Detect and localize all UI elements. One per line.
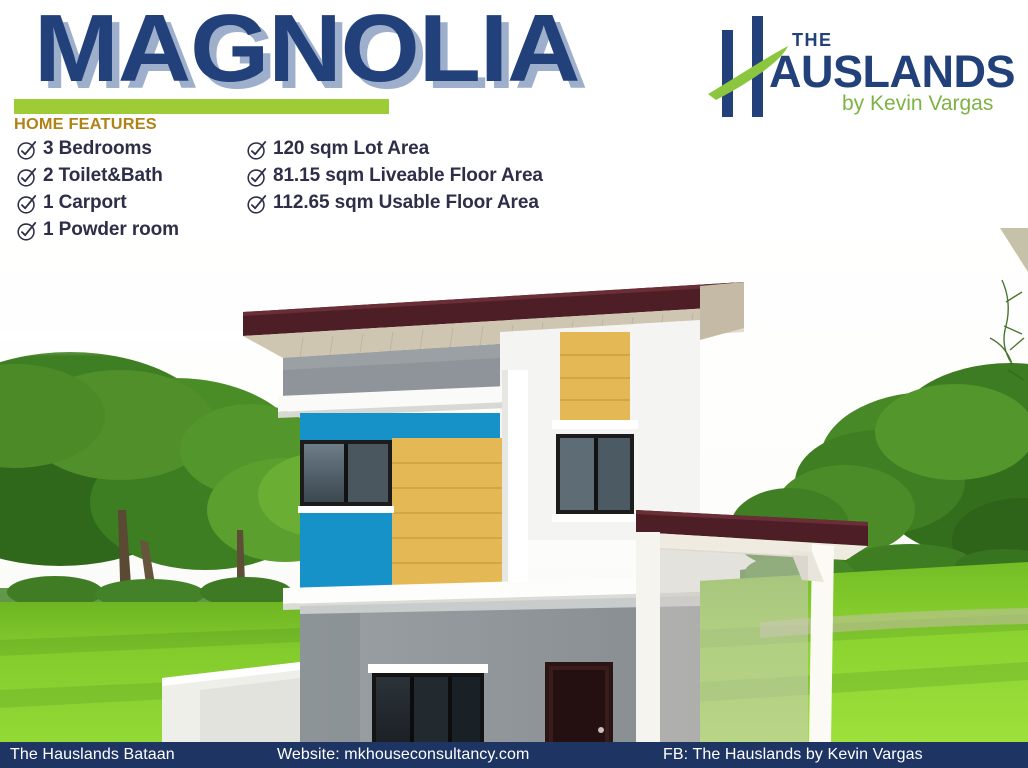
feature-label: 1 Carport <box>43 192 127 214</box>
circle-check-icon <box>16 220 38 242</box>
circle-check-icon <box>246 139 268 161</box>
feature-label: 112.65 sqm Usable Floor Area <box>273 192 539 214</box>
balcony-window <box>298 440 394 513</box>
home-features-list: 3 Bedrooms 2 Toilet&Bath <box>0 138 1028 256</box>
feature-label: 81.15 sqm Liveable Floor Area <box>273 165 543 187</box>
home-features-label: HOME FEATURES <box>14 116 157 134</box>
circle-check-icon <box>16 139 38 161</box>
feature-label: 1 Powder room <box>43 219 179 241</box>
feature-item: 1 Carport <box>16 192 179 215</box>
footer-branch: The Hauslands Bataan <box>10 744 175 766</box>
flyer-page: MAGNOLIA HOME FEATURES THE AUSLANDS by K… <box>0 0 1028 768</box>
ground-floor-window <box>366 664 490 745</box>
features-column-left: 3 Bedrooms 2 Toilet&Bath <box>16 138 179 246</box>
circle-check-icon <box>246 193 268 215</box>
feature-item: 2 Toilet&Bath <box>16 165 179 188</box>
feature-label: 120 sqm Lot Area <box>273 138 429 160</box>
upper-right-window <box>552 434 638 522</box>
feature-item: 112.65 sqm Usable Floor Area <box>246 192 543 215</box>
feature-item: 1 Powder room <box>16 219 179 242</box>
feature-label: 2 Toilet&Bath <box>43 165 163 187</box>
footer-website[interactable]: Website: mkhouseconsultancy.com <box>277 744 529 766</box>
features-column-right: 120 sqm Lot Area 81.15 sqm Liveable Floo… <box>246 138 543 219</box>
green-accent-bar <box>14 99 389 114</box>
circle-check-icon <box>16 166 38 188</box>
entry-door <box>545 662 613 745</box>
feature-label: 3 Bedrooms <box>43 138 152 160</box>
header: MAGNOLIA HOME FEATURES <box>0 0 1028 120</box>
circle-check-icon <box>246 166 268 188</box>
feature-item: 120 sqm Lot Area <box>246 138 543 161</box>
footer-facebook[interactable]: FB: The Hauslands by Kevin Vargas <box>663 744 923 766</box>
feature-item: 3 Bedrooms <box>16 138 179 161</box>
circle-check-icon <box>16 193 38 215</box>
footer-bar: The Hauslands Bataan Website: mkhousecon… <box>0 742 1028 768</box>
house-photo <box>0 210 1028 745</box>
page-title: MAGNOLIA <box>34 0 579 104</box>
feature-item: 81.15 sqm Liveable Floor Area <box>246 165 543 188</box>
